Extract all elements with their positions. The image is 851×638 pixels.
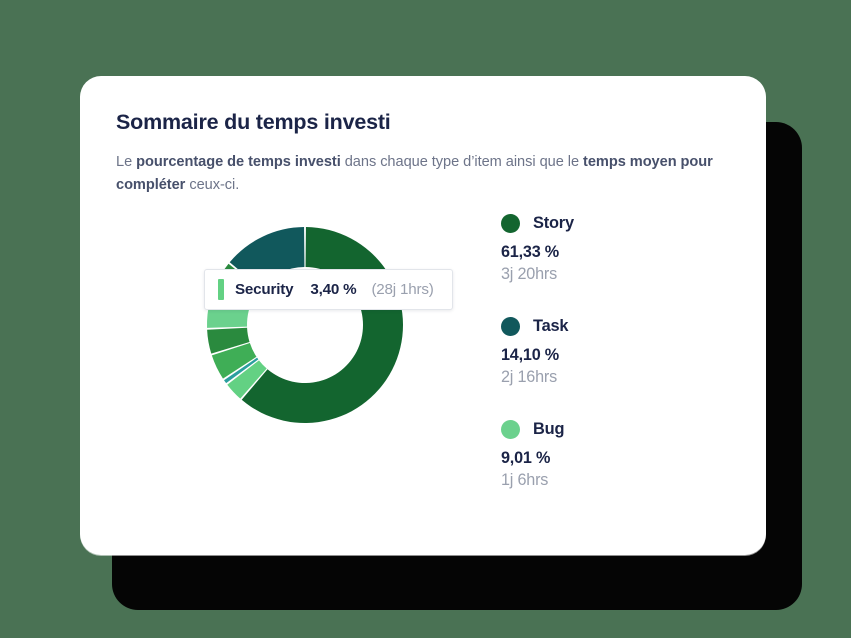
subtitle-part-2: dans chaque type d’item ainsi que le [341, 154, 583, 170]
chart-tooltip: Security 3,40 % (28j 1hrs) [204, 269, 453, 310]
tooltip-label: Security [235, 281, 293, 298]
summary-card: Sommaire du temps investi Le pourcentage… [80, 76, 766, 555]
legend-name: Story [533, 214, 574, 233]
legend-percent: 14,10 % [501, 346, 716, 365]
legend-color-dot-icon [501, 420, 520, 439]
subtitle-part-4: ceux-ci. [185, 177, 239, 193]
donut-chart-svg[interactable] [205, 225, 405, 425]
legend-duration: 3j 20hrs [501, 265, 716, 284]
legend-head: Story [501, 213, 716, 235]
legend-color-dot-icon [501, 214, 520, 233]
legend-name: Task [533, 317, 568, 336]
donut-chart[interactable] [205, 225, 405, 425]
subtitle-part-1: pourcentage de temps investi [136, 154, 341, 170]
page-subtitle: Le pourcentage de temps investi dans cha… [116, 151, 716, 197]
legend-head: Bug [501, 419, 716, 441]
tooltip-color-swatch [218, 279, 224, 300]
chart-body: Security 3,40 % (28j 1hrs) Story61,33 %3… [80, 213, 766, 543]
card-header: Sommaire du temps investi Le pourcentage… [80, 76, 766, 197]
legend-item-task[interactable]: Task14,10 %2j 16hrs [501, 316, 716, 387]
legend-duration: 1j 6hrs [501, 471, 716, 490]
legend-duration: 2j 16hrs [501, 368, 716, 387]
legend-percent: 61,33 % [501, 243, 716, 262]
subtitle-part-0: Le [116, 154, 136, 170]
tooltip-value: 3,40 % [310, 281, 356, 298]
tooltip-duration: (28j 1hrs) [371, 281, 433, 298]
legend-item-story[interactable]: Story61,33 %3j 20hrs [501, 213, 716, 284]
legend-color-dot-icon [501, 317, 520, 336]
legend-name: Bug [533, 420, 564, 439]
legend-item-bug[interactable]: Bug9,01 %1j 6hrs [501, 419, 716, 490]
legend-percent: 9,01 % [501, 449, 716, 468]
legend-head: Task [501, 316, 716, 338]
page-title: Sommaire du temps investi [116, 110, 726, 136]
chart-legend: Story61,33 %3j 20hrsTask14,10 %2j 16hrsB… [501, 213, 716, 490]
